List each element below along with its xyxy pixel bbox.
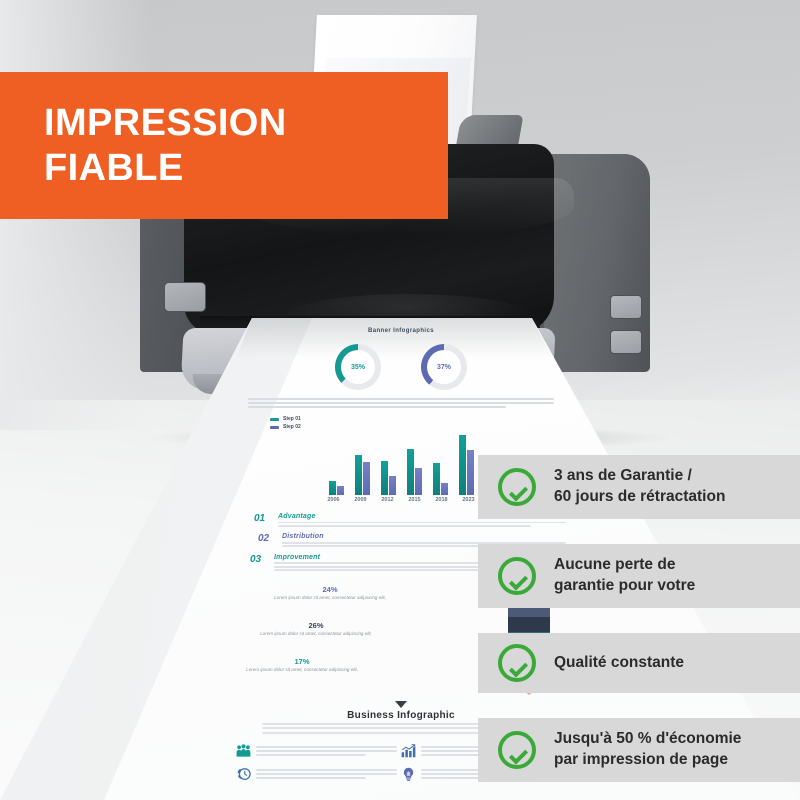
pencil-stat-1: 24% Lorem ipsum dolor sit amet, consecte… [264,585,396,602]
bar-step-02 [363,462,370,495]
bar-group [329,481,344,495]
bar-group [355,455,370,495]
bar-step-01 [355,455,362,495]
feature-card-1[interactable]: 3 ans de Garantie / 60 jours de rétracta… [478,455,800,519]
printer-button-right-bottom[interactable] [610,330,642,354]
icon-item-clock [236,767,401,781]
clock-phone-icon [236,767,251,781]
bar-step-01 [433,463,440,495]
check-circle-icon [498,468,536,506]
poster-canvas: Banner Infographics 35% 37% Step 01 Step… [0,0,800,800]
feature-card-2-text: Aucune perte de garantie pour votre [554,555,695,597]
down-arrow-icon [395,701,407,708]
pencil-stat-text: Lorem ipsum dolor sit amet, consectetur … [236,667,368,674]
bar-step-01 [459,435,466,495]
step-number: 02 [258,533,276,544]
page-title: IMPRESSION FIABLE [44,101,287,191]
pencil-stat-3: 17% Lorem ipsum dolor sit amet, consecte… [236,657,368,674]
legend-label: Step 02 [283,424,301,430]
legend-label: Step 01 [283,416,301,422]
donut-chart-1-label: 35% [335,344,381,390]
bar-step-02 [415,468,422,495]
bar-step-01 [407,449,414,495]
bar-step-02 [389,476,396,495]
bar-step-02 [467,450,474,495]
check-circle-icon [498,644,536,682]
x-axis-tick: 2023 [461,497,477,503]
feature-card-1-text: 3 ans de Garantie / 60 jours de rétracta… [554,466,725,508]
legend-item-step-02: Step 02 [270,424,566,430]
infographic-header: Banner Infographics [236,328,566,334]
donut-chart-group: 35% 37% [236,344,566,390]
icon-item-people [236,744,401,758]
donut-chart-2-label: 37% [421,344,467,390]
x-axis-tick: 2009 [353,497,369,503]
legend-swatch-icon [270,418,279,421]
headline-line-2: FIABLE [44,147,184,189]
feature-card-3[interactable]: Qualité constante [478,633,800,693]
x-axis-tick: 2012 [380,497,396,503]
bar-group [433,463,448,495]
feature-card-3-text: Qualité constante [554,653,684,674]
pencil-stat-percent: 24% [264,585,396,594]
printer-button-left[interactable] [164,282,206,312]
headline-line-1: IMPRESSION [44,102,287,144]
bar-group [407,449,422,495]
bar-step-01 [381,461,388,495]
bar-step-01 [329,481,336,495]
pencil-stat-percent: 17% [236,657,368,666]
legend-swatch-icon [270,426,279,429]
bar-group [381,461,396,495]
legend-item-step-01: Step 01 [270,416,566,422]
bar-group [459,435,474,495]
pencil-stat-text: Lorem ipsum dolor sit amet, consectetur … [264,595,396,602]
lightbulb-icon [401,767,416,781]
headline-banner: IMPRESSION FIABLE [0,72,448,219]
pencil-stat-2: 26% Lorem ipsum dolor sit amet, consecte… [250,621,382,638]
feature-card-2[interactable]: Aucune perte de garantie pour votre [478,544,800,608]
bar-step-02 [337,486,344,495]
step-number: 01 [254,513,272,524]
donut-chart-1: 35% [335,344,381,390]
check-circle-icon [498,557,536,595]
bar-step-02 [441,483,448,495]
bar-chart-growth-icon [401,744,416,758]
pencil-stat-text: Lorem ipsum dolor sit amet, consectetur … [250,631,382,638]
x-axis-tick: 2018 [434,497,450,503]
feature-card-4[interactable]: Jusqu'à 50 % d'économie par impression d… [478,718,800,782]
infographic-intro-text [236,398,566,408]
people-group-icon [236,744,251,758]
check-circle-icon [498,731,536,769]
x-axis-tick: 2006 [326,497,342,503]
feature-card-4-text: Jusqu'à 50 % d'économie par impression d… [554,729,741,771]
step-number: 03 [250,554,268,565]
chart-legend: Step 01 Step 02 [270,416,566,430]
x-axis-tick: 2015 [407,497,423,503]
donut-chart-2: 37% [421,344,467,390]
pencil-stat-percent: 26% [250,621,382,630]
feature-card-list: 3 ans de Garantie / 60 jours de rétracta… [478,455,800,800]
printer-button-right-top[interactable] [610,295,642,319]
